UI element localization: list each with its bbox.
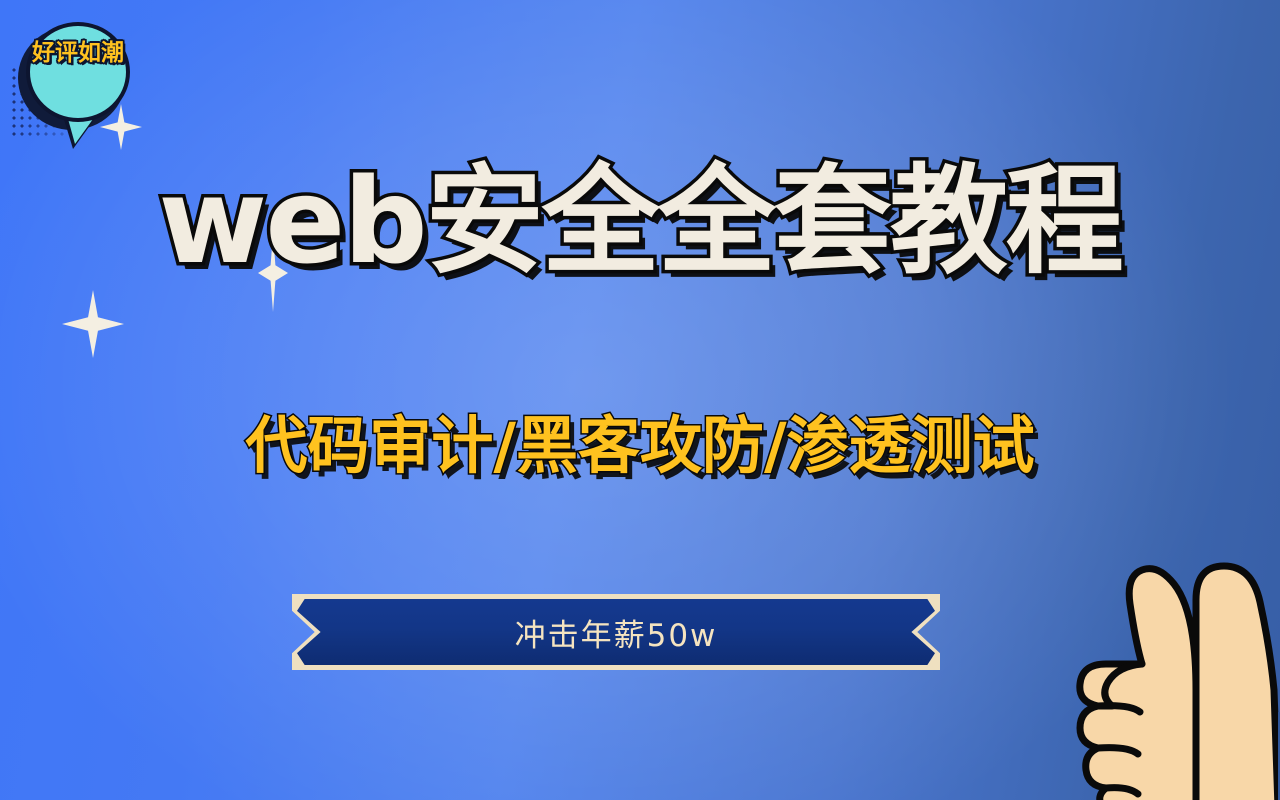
sparkle-star-icon [62, 290, 124, 358]
banner-label: 冲击年薪50w [292, 594, 940, 670]
thumbs-up-icon [1046, 540, 1280, 800]
page-title: web安全全套教程 [0, 152, 1280, 290]
poster-canvas: 好评如潮 web安全全套教程 代码审计/黑客攻防/渗透测试 冲击年薪50w [0, 0, 1280, 800]
salary-banner: 冲击年薪50w [292, 594, 940, 670]
subtitle-text: 代码审计/黑客攻防/渗透测试 [0, 404, 1280, 488]
badge-label: 好评如潮 [32, 40, 124, 66]
speech-bubble-icon [26, 22, 130, 122]
